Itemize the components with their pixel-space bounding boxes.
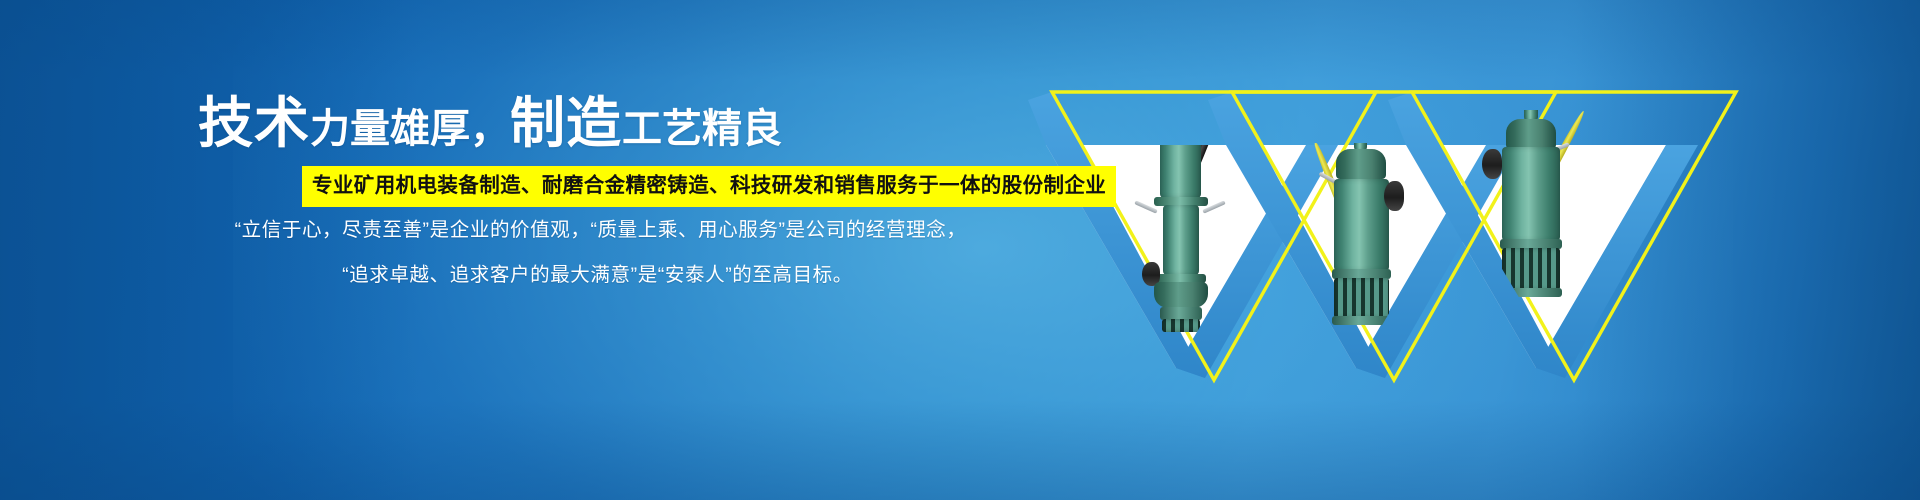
body-copy: “立信于心，尽责至善”是企业的价值观，“质量上乘、用心服务”是公司的经营理念， … <box>0 213 1195 303</box>
promo-banner: 技术力量雄厚，制造工艺精良 专业矿用机电装备制造、耐磨合金精密铸造、科技研发和销… <box>0 0 1920 500</box>
headline-segment-3: 制造 <box>510 92 622 154</box>
headline-segment-4: 工艺精良 <box>622 107 782 151</box>
text-block: 技术力量雄厚，制造工艺精良 专业矿用机电装备制造、耐磨合金精密铸造、科技研发和销… <box>0 0 1020 500</box>
body-line-1: “立信于心，尽责至善”是企业的价值观，“质量上乘、用心服务”是公司的经营理念， <box>0 213 1195 242</box>
highlight-tagline: 专业矿用机电装备制造、耐磨合金精密铸造、科技研发和销售服务于一体的股份制企业 <box>302 166 1116 207</box>
headline-segment-2: 力量雄厚， <box>310 107 510 151</box>
headline-segment-1: 技术 <box>198 92 310 154</box>
headline: 技术力量雄厚，制造工艺精良 <box>0 96 980 151</box>
body-line-2: “追求卓越、追求客户的最大满意”是“安泰人”的至高目标。 <box>0 258 1195 287</box>
